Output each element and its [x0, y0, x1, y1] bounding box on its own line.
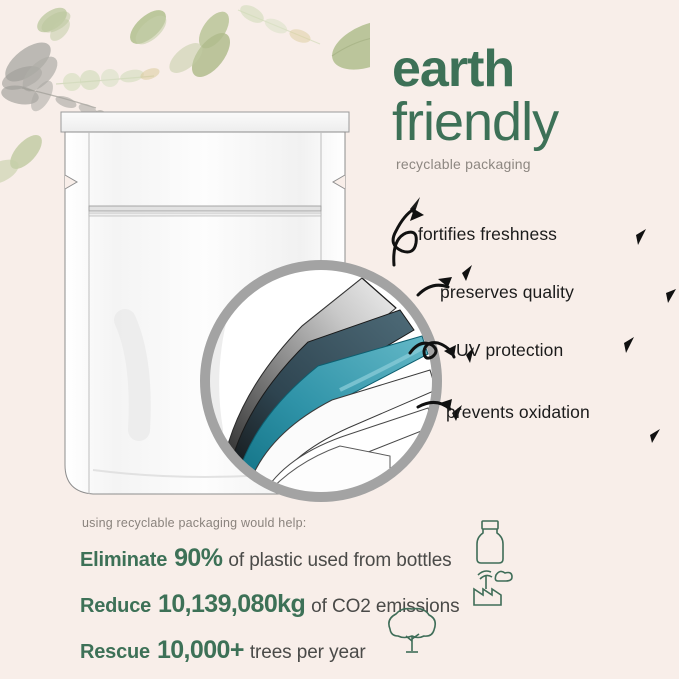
- stat-verb: Rescue: [80, 641, 150, 664]
- stats-block: using recyclable packaging would help: E…: [80, 516, 600, 679]
- stats-intro: using recyclable packaging would help:: [82, 516, 600, 530]
- headline-subtitle: recyclable packaging: [396, 156, 674, 172]
- stat-number: 10,000+: [157, 636, 244, 665]
- stat-verb: Reduce: [80, 595, 151, 618]
- stat-number: 90%: [174, 544, 222, 573]
- headline-line2: friendly: [392, 94, 674, 150]
- poster-canvas: earth friendly recyclable packaging fort…: [0, 0, 679, 679]
- feature-label-prevents-oxidation: prevents oxidation: [446, 402, 590, 423]
- feature-label-preserves-quality: preserves quality: [440, 282, 574, 303]
- stat-number: 10,139,080kg: [158, 590, 305, 619]
- headline-block: earth friendly recyclable packaging: [392, 44, 674, 172]
- headline-line1: earth: [392, 44, 674, 94]
- factory-icon: [470, 565, 516, 609]
- stat-row-rescue: Rescue 10,000+ trees per year: [80, 636, 600, 665]
- feature-label-fortifies-freshness: fortifies freshness: [418, 224, 557, 245]
- bottle-icon: [470, 518, 510, 566]
- stat-verb: Eliminate: [80, 549, 167, 572]
- stat-row-eliminate: Eliminate 90% of plastic used from bottl…: [80, 544, 600, 573]
- tree-icon: [382, 605, 442, 659]
- stat-tail: of plastic used from bottles: [228, 550, 451, 572]
- feature-label-uv-protection: UV protection: [456, 340, 563, 361]
- stat-row-reduce: Reduce 10,139,080kg of CO2 emissions: [80, 590, 600, 619]
- stat-tail: trees per year: [250, 642, 366, 664]
